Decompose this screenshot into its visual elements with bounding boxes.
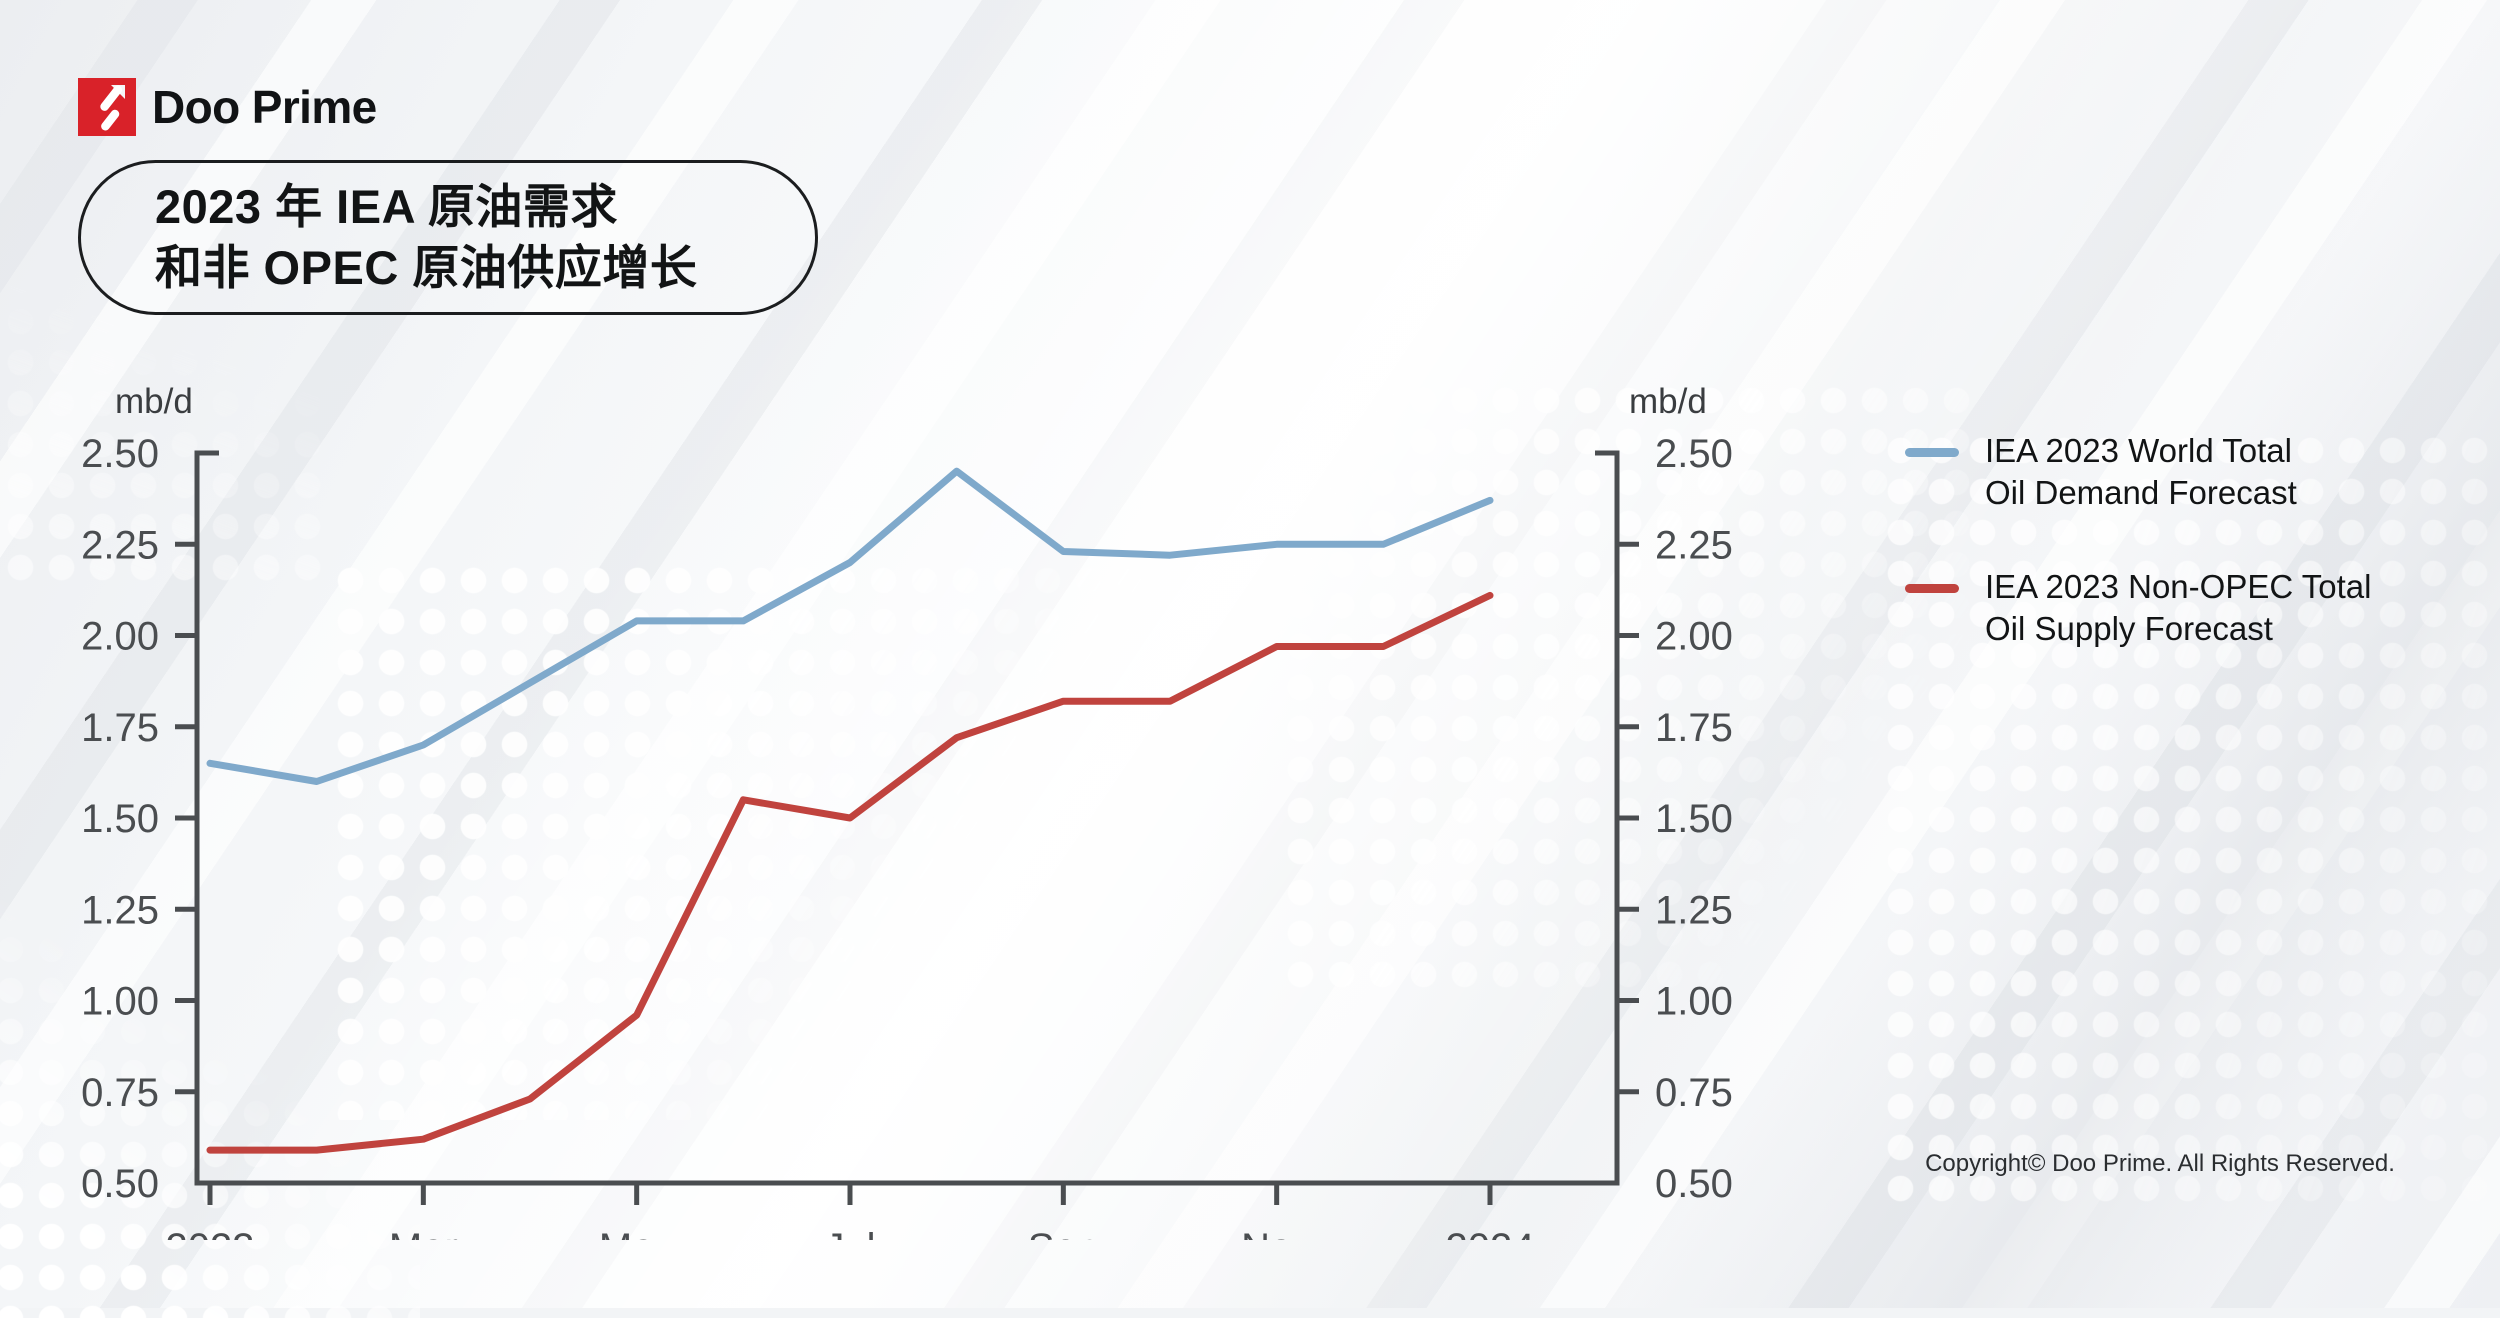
svg-text:0.75: 0.75 — [81, 1071, 159, 1115]
svg-text:2.50: 2.50 — [81, 432, 159, 476]
legend-label-demand: IEA 2023 World Total Oil Demand Forecast — [1985, 430, 2297, 514]
svg-text:Mar: Mar — [389, 1226, 458, 1240]
svg-text:1.25: 1.25 — [81, 888, 159, 932]
chart-canvas: mb/dmb/d2.502.502.252.252.002.001.751.75… — [0, 340, 1760, 1240]
svg-text:May: May — [599, 1226, 675, 1240]
legend-label-demand-line2: Oil Demand Forecast — [1985, 472, 2297, 514]
svg-text:1.75: 1.75 — [1655, 706, 1733, 750]
svg-text:1.25: 1.25 — [1655, 888, 1733, 932]
title-line-2: 和非 OPEC 原油供应增长 — [155, 238, 815, 298]
legend-label-supply: IEA 2023 Non-OPEC Total Oil Supply Forec… — [1985, 566, 2371, 650]
page-title: 2023 年 IEA 原油需求 和非 OPEC 原油供应增长 — [78, 160, 818, 315]
svg-text:mb/d: mb/d — [1629, 382, 1707, 421]
svg-text:1.00: 1.00 — [81, 980, 159, 1024]
svg-text:Sep: Sep — [1028, 1226, 1099, 1240]
svg-text:0.50: 0.50 — [81, 1162, 159, 1206]
copyright-notice: Copyright© Doo Prime. All Rights Reserve… — [1880, 1150, 2440, 1178]
brand-name: Doo Prime — [152, 84, 377, 130]
svg-text:1.75: 1.75 — [81, 706, 159, 750]
svg-text:1.50: 1.50 — [1655, 797, 1733, 841]
chart-legend: IEA 2023 World Total Oil Demand Forecast… — [1905, 430, 2465, 702]
brand-lockup: Doo Prime — [78, 78, 377, 136]
line-chart: mb/dmb/d2.502.502.252.252.002.001.751.75… — [0, 340, 1760, 1240]
svg-text:0.75: 0.75 — [1655, 1071, 1733, 1115]
svg-text:mb/d: mb/d — [115, 382, 193, 421]
svg-text:Nov: Nov — [1241, 1226, 1312, 1240]
svg-text:2.25: 2.25 — [81, 523, 159, 567]
legend-label-supply-line2: Oil Supply Forecast — [1985, 608, 2371, 650]
svg-text:Jul: Jul — [824, 1226, 875, 1240]
svg-text:1.00: 1.00 — [1655, 980, 1733, 1024]
svg-text:2.00: 2.00 — [81, 615, 159, 659]
legend-label-demand-line1: IEA 2023 World Total — [1985, 430, 2297, 472]
svg-text:2.00: 2.00 — [1655, 615, 1733, 659]
legend-swatch-demand — [1905, 448, 1959, 457]
title-line-1: 2023 年 IEA 原油需求 — [155, 177, 815, 237]
svg-text:2023: 2023 — [166, 1226, 255, 1240]
legend-item-supply[interactable]: IEA 2023 Non-OPEC Total Oil Supply Forec… — [1905, 566, 2465, 650]
svg-text:0.50: 0.50 — [1655, 1162, 1733, 1206]
legend-swatch-supply — [1905, 584, 1959, 593]
svg-text:2.25: 2.25 — [1655, 523, 1733, 567]
svg-text:2.50: 2.50 — [1655, 432, 1733, 476]
svg-text:1.50: 1.50 — [81, 797, 159, 841]
legend-label-supply-line1: IEA 2023 Non-OPEC Total — [1985, 566, 2371, 608]
doo-prime-mark-icon — [78, 78, 136, 136]
legend-item-demand[interactable]: IEA 2023 World Total Oil Demand Forecast — [1905, 430, 2465, 514]
svg-text:2024: 2024 — [1446, 1226, 1535, 1240]
